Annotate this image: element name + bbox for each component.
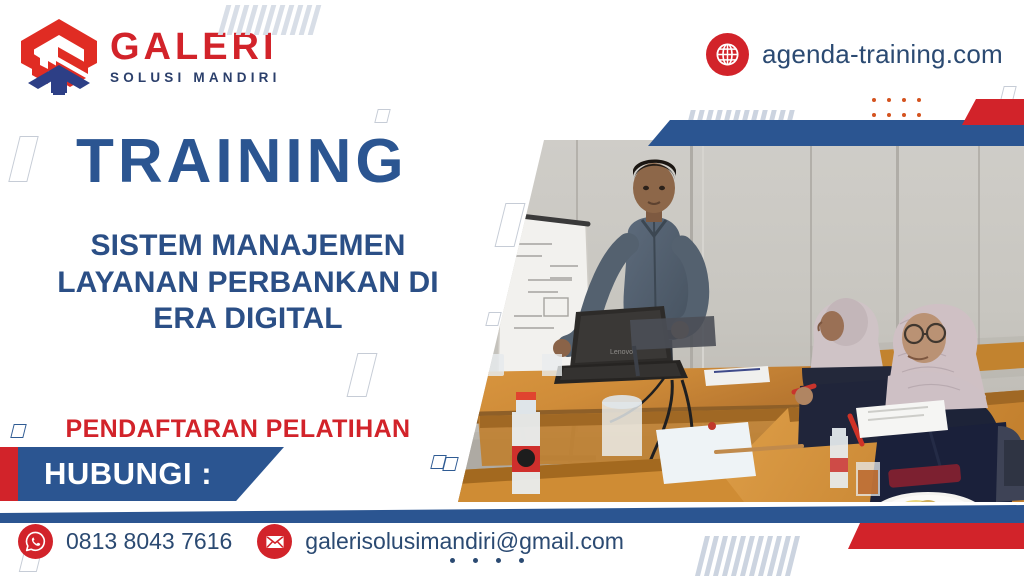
bottom-accent-bar-red bbox=[848, 523, 1024, 549]
top-accent-bar-red bbox=[962, 99, 1024, 125]
contact-banner: HUBUNGI : bbox=[18, 447, 284, 501]
decor-parallelogram-left-upper bbox=[8, 136, 38, 182]
subtitle-line-3: ERA DIGITAL bbox=[28, 301, 468, 338]
svg-text:Lenovo: Lenovo bbox=[610, 349, 633, 356]
bottom-accent-bar-blue bbox=[0, 505, 1024, 523]
page-title: TRAINING bbox=[76, 131, 408, 193]
brand-tagline: SOLUSI MANDIRI bbox=[110, 71, 281, 85]
decor-stripes-bottom-right bbox=[695, 536, 800, 576]
contact-details: 0813 8043 7616 galerisolusimandiri@gmail… bbox=[18, 524, 626, 559]
registration-label: PENDAFTARAN PELATIHAN bbox=[28, 415, 448, 444]
phone-number: 0813 8043 7616 bbox=[66, 528, 232, 555]
website-badge[interactable]: agenda-training.com bbox=[706, 33, 1003, 76]
decor-parallelogram-left-blue bbox=[10, 424, 26, 438]
decor-dots-bottom bbox=[450, 558, 524, 563]
contact-banner-label: HUBUNGI : bbox=[18, 456, 212, 492]
brand-logo-text: GALERI SOLUSI MANDIRI bbox=[110, 28, 281, 85]
training-room-photo: Lenovo bbox=[458, 140, 1024, 502]
whatsapp-icon[interactable] bbox=[18, 524, 53, 559]
website-url: agenda-training.com bbox=[762, 39, 1003, 70]
envelope-icon[interactable] bbox=[257, 524, 292, 559]
decor-parallelogram-topright bbox=[1000, 86, 1016, 100]
subtitle-line-2: LAYANAN PERBANKAN DI bbox=[28, 265, 468, 302]
poster-canvas: Lenovo bbox=[0, 0, 1024, 576]
globe-icon bbox=[706, 33, 749, 76]
decor-stripes-logo bbox=[218, 5, 322, 35]
decor-parallelogram-mid-small bbox=[485, 312, 501, 326]
gs-monogram-icon bbox=[18, 17, 100, 95]
email-address: galerisolusimandiri@gmail.com bbox=[305, 528, 624, 555]
subtitle-line-1: SISTEM MANAJEMEN bbox=[28, 228, 468, 265]
decor-parallelogram-top-mid bbox=[374, 109, 390, 123]
decor-parallelogram-lower-mid bbox=[347, 353, 378, 397]
page-subtitle: SISTEM MANAJEMEN LAYANAN PERBANKAN DI ER… bbox=[28, 228, 468, 338]
